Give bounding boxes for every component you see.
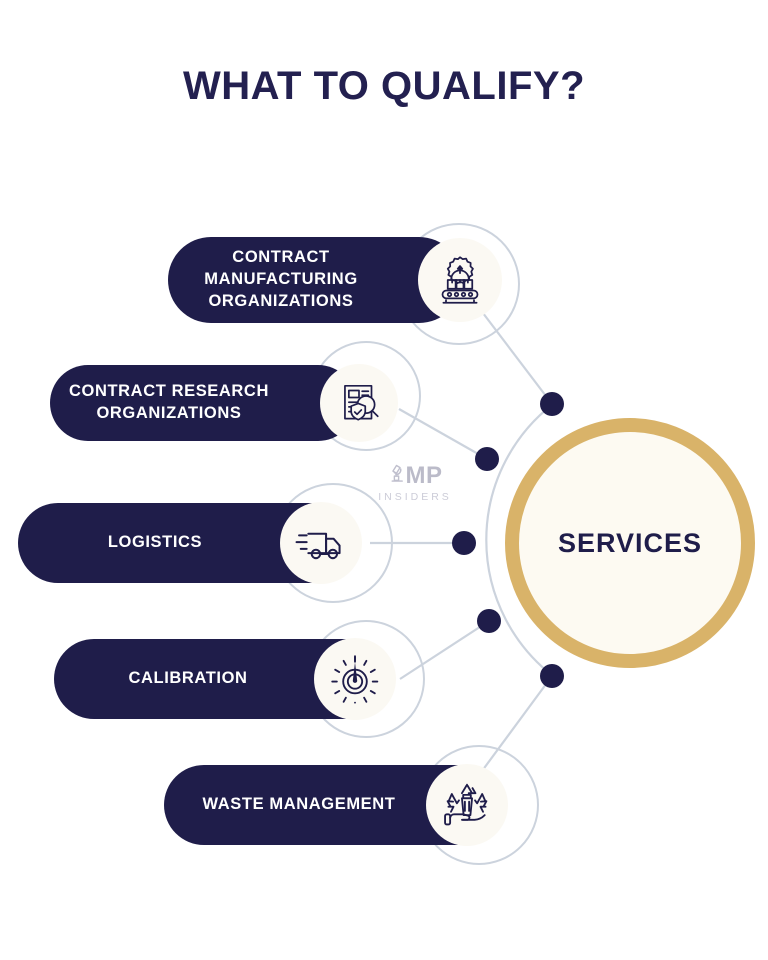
junction-dot-1 [540, 392, 564, 416]
junction-dot-3 [452, 531, 476, 555]
junction-dot-5 [540, 664, 564, 688]
recycle-hand-bin-icon [426, 764, 508, 846]
gauge-dial-icon [314, 638, 396, 720]
node-label-2: CONTRACT RESEARCH ORGANIZATIONS [51, 381, 355, 425]
node-pill-contract-research-organizations[interactable]: CONTRACT RESEARCH ORGANIZATIONS [50, 365, 356, 441]
infographic-canvas: WHAT TO QUALIFY? CONTRACT MANUFACTURING … [0, 0, 768, 960]
node-label-3: LOGISTICS [90, 532, 288, 554]
node-label-1: CONTRACT MANUFACTURING ORGANIZATIONS [186, 247, 444, 312]
center-hub-services[interactable]: SERVICES [505, 418, 755, 668]
hub-label: SERVICES [558, 528, 702, 559]
junction-dot-4 [477, 609, 501, 633]
delivery-truck-icon [280, 502, 362, 584]
node-label-4: CALIBRATION [110, 668, 333, 690]
factory-conveyor-gear-icon [418, 238, 502, 322]
junction-dot-2 [475, 447, 499, 471]
document-magnifier-shield-icon [320, 364, 398, 442]
